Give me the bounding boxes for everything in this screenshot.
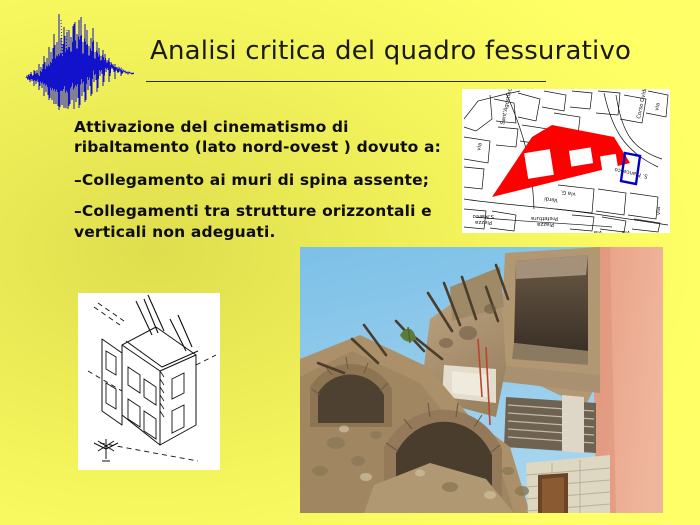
svg-text:Prefettura: Prefettura xyxy=(531,215,558,221)
axonometric-drawing-figure xyxy=(78,293,220,470)
cadastral-map-figure: Sant'Agostino via Corso Ovidio via S. Fr… xyxy=(462,89,670,233)
bullet-item-2: –Collegamenti tra strutture orizzontali … xyxy=(74,201,454,241)
collapsed-building-photo-figure xyxy=(300,247,663,513)
svg-text:via: via xyxy=(594,229,602,233)
paragraph-lead: Attivazione del cinematismo di ribaltame… xyxy=(74,117,454,157)
slide-canvas: Analisi critica del quadro fessurativo A… xyxy=(0,0,700,525)
svg-text:S.Marco: S.Marco xyxy=(473,213,494,219)
bullet-item-1: –Collegamento ai muri di spina assente; xyxy=(74,170,454,190)
svg-text:via: via xyxy=(656,207,662,215)
svg-text:via: via xyxy=(622,229,630,233)
seismogram-icon xyxy=(24,12,136,110)
page-title: Analisi critica del quadro fessurativo xyxy=(150,36,580,66)
body-text-block: Attivazione del cinematismo di ribaltame… xyxy=(74,117,454,242)
title-divider xyxy=(146,81,546,82)
